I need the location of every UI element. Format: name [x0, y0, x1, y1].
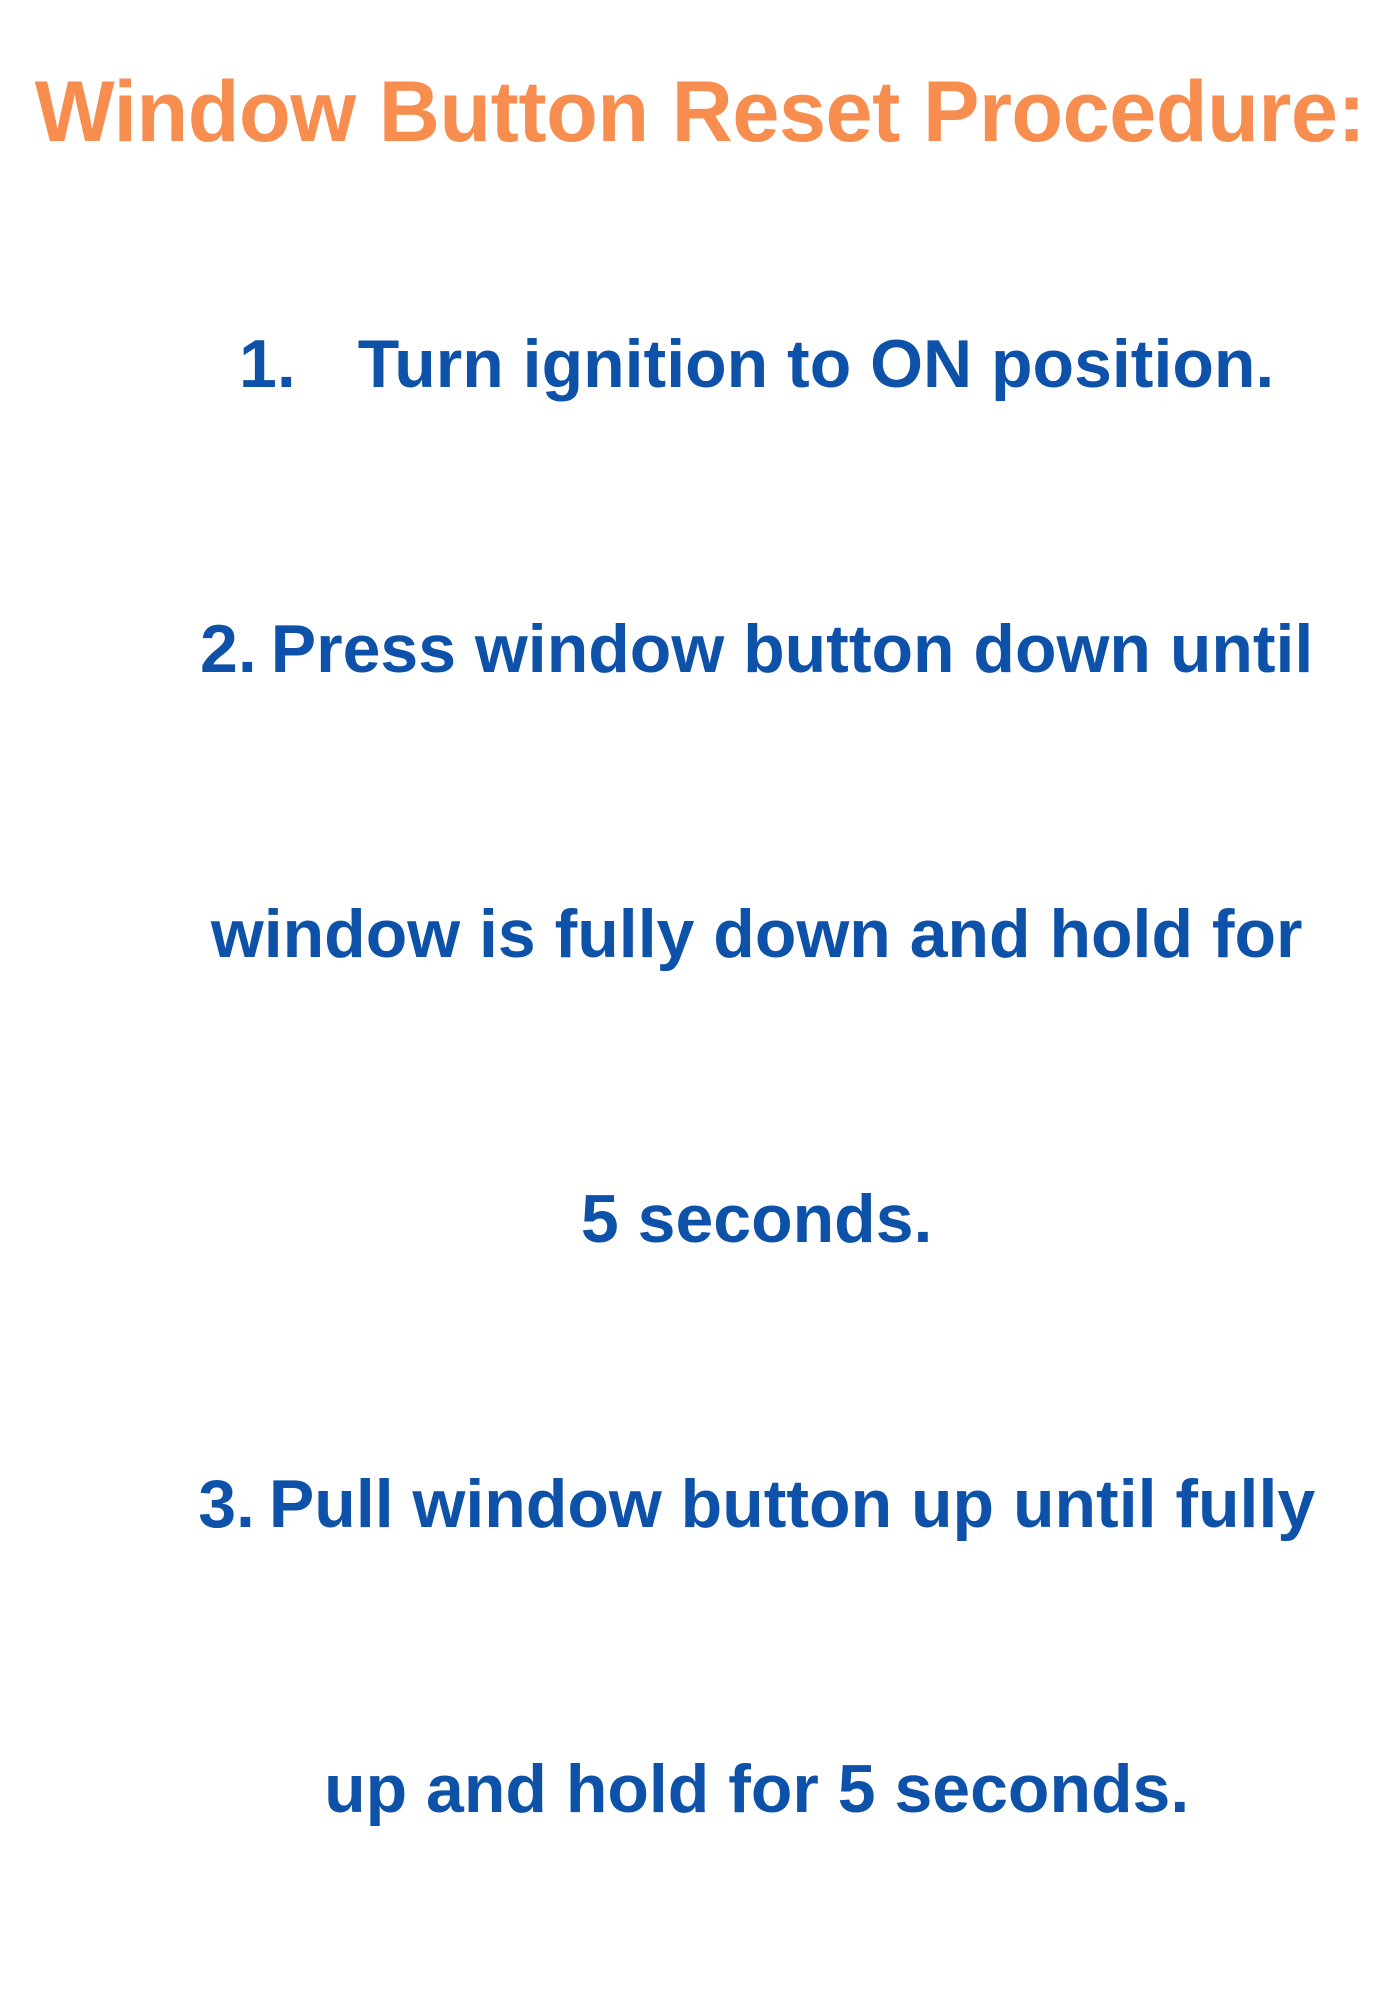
list-item-continuation: up and hold for 5 seconds. — [0, 1647, 1400, 1932]
step-text: Turn ignition to ON position. — [358, 326, 1275, 402]
step-number: 3. — [198, 1466, 255, 1542]
list-item: 3.Pull window button up until fully — [0, 1362, 1400, 1647]
step-text-continued: 5 seconds. — [581, 1181, 933, 1257]
list-item: 2.Press window button down until — [0, 507, 1400, 792]
page-title: Window Button Reset Procedure: — [11, 62, 1390, 162]
list-item: 1.Turn ignition to ON position. — [0, 222, 1400, 507]
step-number: 1. — [239, 326, 296, 402]
instruction-slide: Window Button Reset Procedure: 1.Turn ig… — [0, 0, 1400, 1000]
step-number: 2. — [200, 611, 257, 687]
list-item-continuation: 5 seconds. — [0, 1077, 1400, 1362]
step-text-continued: up and hold for 5 seconds. — [324, 1751, 1189, 1827]
step-text-continued: window is fully down and hold for — [211, 896, 1303, 972]
steps-list: 1.Turn ignition to ON position. 2.Press … — [0, 222, 1400, 2000]
list-item-continuation: window is fully down and hold for — [0, 792, 1400, 1077]
list-item: 4.Repeat steps as necessary. — [0, 1932, 1400, 2000]
step-text: Pull window button up until fully — [269, 1466, 1315, 1542]
step-text: Press window button down until — [271, 611, 1314, 687]
